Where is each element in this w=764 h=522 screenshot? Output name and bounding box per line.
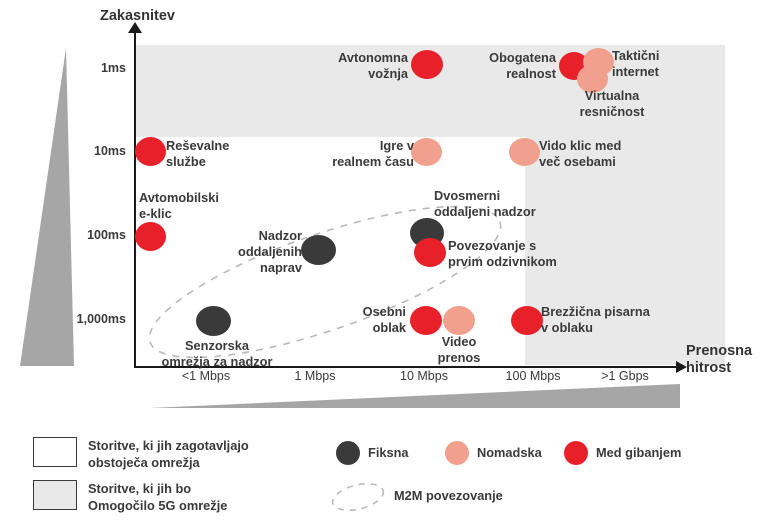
y-tick-1ms: 1ms: [52, 61, 126, 75]
legend-swatch-existing-networks: [33, 437, 77, 467]
legend-m2m-ellipse-icon: [328, 482, 388, 512]
bubble-realtime-gaming[interactable]: [411, 138, 442, 166]
legend-label-5g-networks: Storitve, ki jih bo Omogočilo 5G omrežje: [88, 481, 338, 514]
bubble-sensor-networks[interactable]: [196, 306, 231, 336]
label-personal-cloud: Osebni oblak: [316, 304, 406, 336]
y-tick-1000ms: 1,000ms: [52, 312, 126, 326]
legend-swatch-5g-networks: [33, 480, 77, 510]
bubble-emergency-services[interactable]: [135, 137, 166, 166]
label-wireless-office-cloud: Brezžična pisarna v oblaku: [541, 304, 691, 336]
bubble-remote-device-monitoring[interactable]: [301, 235, 336, 265]
label-realtime-gaming: Igre v realnem času: [318, 138, 414, 170]
y-tick-100ms: 100ms: [52, 228, 126, 242]
legend-label-existing-networks: Storitve, ki jih zagotavljajo obstoječa …: [88, 438, 338, 471]
legend-dot-fixed: [336, 441, 360, 465]
legend-label-m2m: M2M povezovanje: [394, 488, 574, 505]
label-virtual-reality: Virtualna resničnost: [558, 88, 666, 120]
label-automotive-ecall: Avtomobilski e-klic: [139, 190, 259, 222]
x-tick-gt1gbps: >1 Gbps: [577, 369, 673, 383]
bubble-autonomous-driving[interactable]: [411, 50, 443, 79]
label-multiparty-video-call: Vido klic med več osebami: [539, 138, 659, 170]
label-augmented-reality: Obogatena realnost: [452, 50, 556, 82]
bubble-video-streaming[interactable]: [443, 306, 475, 335]
bubble-automotive-ecall[interactable]: [135, 222, 166, 251]
label-remote-device-monitoring: Nadzor oddaljenih naprav: [210, 228, 302, 276]
label-emergency-services: Reševalne službe: [166, 138, 276, 170]
label-video-streaming: Video prenos: [424, 334, 494, 366]
legend-dot-nomadic: [445, 441, 469, 465]
bubble-first-responder-connectivity[interactable]: [414, 238, 446, 267]
label-first-responder-connectivity: Povezovanje s prvim odzivnikom: [448, 238, 592, 270]
bubble-personal-cloud[interactable]: [410, 306, 442, 335]
legend-dot-mobile: [564, 441, 588, 465]
bubble-multiparty-video-call[interactable]: [509, 138, 540, 166]
legend-label-nomadic: Nomadska: [477, 445, 567, 462]
legend-label-mobile: Med gibanjem: [596, 445, 716, 462]
x-axis-title: Prenosna hitrost: [686, 343, 762, 378]
speed-wedge: [150, 382, 680, 410]
label-bidirectional-remote-control: Dvosmerni oddaljeni nadzor: [434, 188, 574, 220]
label-tactile-internet: Taktični internet: [612, 48, 702, 80]
legend-label-fixed: Fiksna: [368, 445, 448, 462]
label-sensor-networks: Senzorska omrežja za nadzor: [147, 338, 287, 370]
y-tick-10ms: 10ms: [52, 144, 126, 158]
label-autonomous-driving: Avtonomna vožnja: [300, 50, 408, 82]
y-axis-title: Zakasnitev: [100, 8, 175, 25]
x-axis-title-line1: Prenosna: [686, 343, 762, 360]
chart-canvas: Zakasnitev Prenosna hitrost 1ms 10ms 100…: [0, 0, 764, 522]
x-axis-title-line2: hitrost: [686, 360, 762, 377]
bubble-wireless-office-cloud[interactable]: [511, 306, 543, 335]
